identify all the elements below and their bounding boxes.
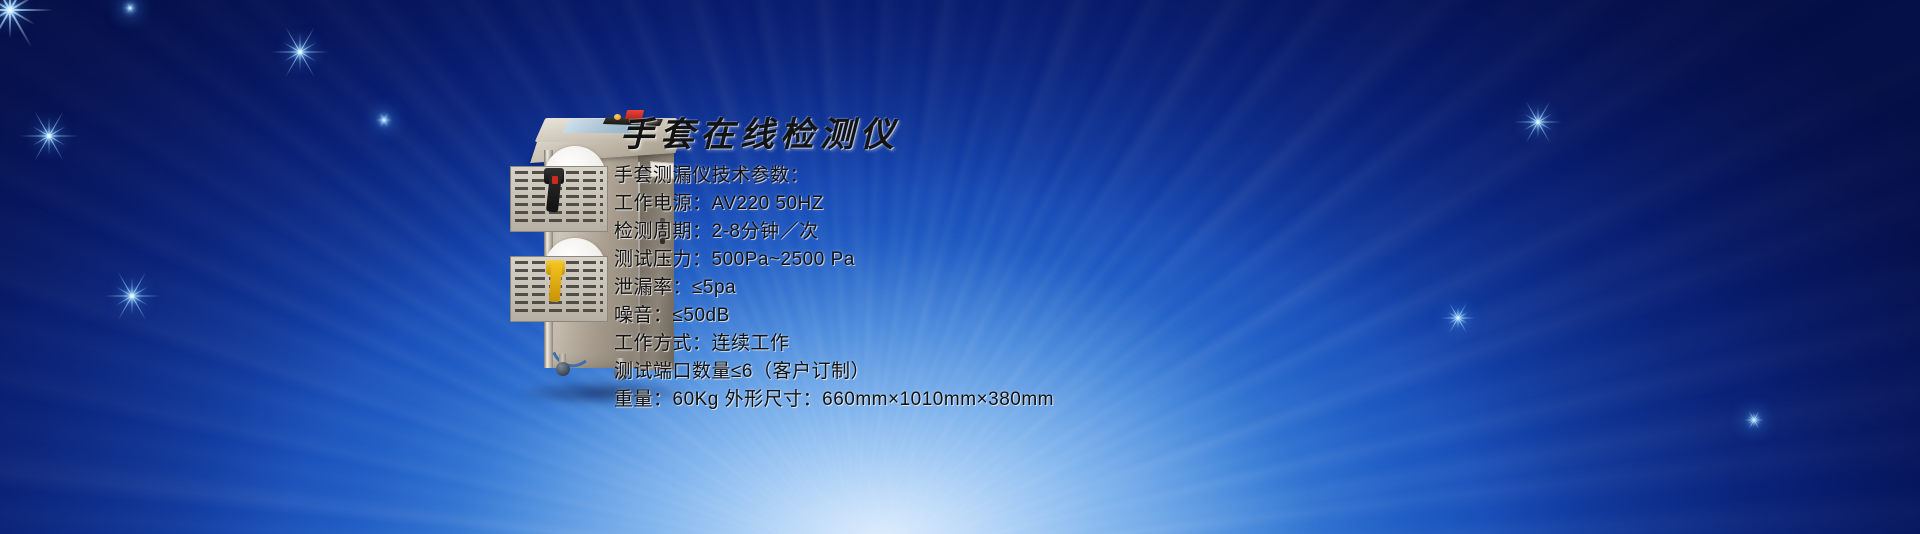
spec-line: 手套测漏仪技术参数：: [614, 162, 1054, 190]
promo-banner: 手套在线检测仪 手套测漏仪技术参数：工作电源：AV220 50HZ检测周期：2-…: [0, 0, 1920, 534]
specification-list: 手套测漏仪技术参数：工作电源：AV220 50HZ检测周期：2-8分钟／次测试压…: [614, 162, 1054, 414]
spec-line: 检测周期：2-8分钟／次: [614, 218, 1054, 246]
spec-line: 噪音：≤50dB: [614, 302, 1054, 330]
spec-line: 重量：60Kg 外形尺寸：660mm×1010mm×380mm: [614, 386, 1054, 414]
spec-line: 测试端口数量≤6（客户订制）: [614, 358, 1054, 386]
spec-line: 工作电源：AV220 50HZ: [614, 190, 1054, 218]
spec-line: 工作方式：连续工作: [614, 330, 1054, 358]
page-title: 手套在线检测仪: [620, 118, 1054, 152]
spec-line: 泄漏率：≤5pa: [614, 274, 1054, 302]
machine-grip-button: [552, 176, 558, 184]
spec-line: 测试压力：500Pa~2500 Pa: [614, 246, 1054, 274]
text-block: 手套在线检测仪 手套测漏仪技术参数：工作电源：AV220 50HZ检测周期：2-…: [614, 118, 1054, 414]
machine-caster-left: [556, 362, 570, 376]
